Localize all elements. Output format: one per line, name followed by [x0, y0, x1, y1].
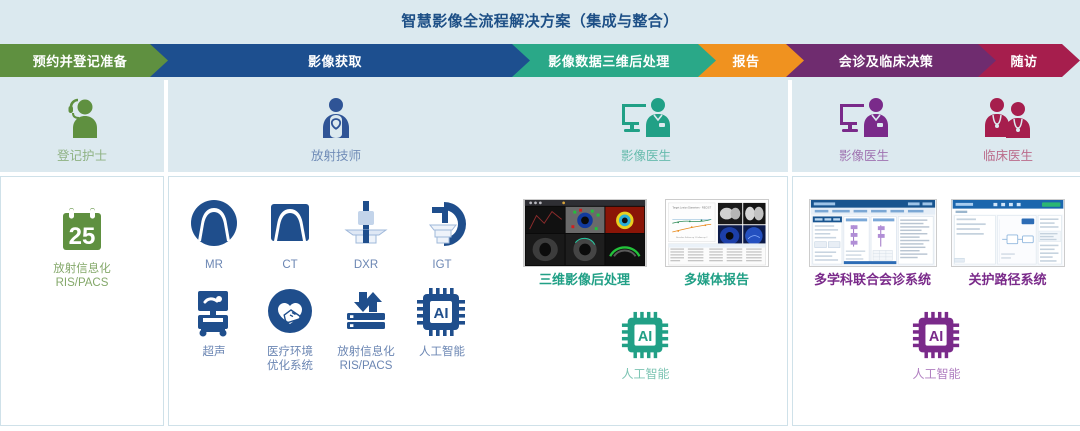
- stage-scheduling-label: 预约并登记准备: [27, 51, 142, 70]
- tile-ai-acquisition[interactable]: AI 人工智能: [404, 286, 480, 359]
- stage-reporting-label: 报告: [726, 51, 773, 70]
- tile-caption: 关护路径系统: [968, 272, 1046, 288]
- role-4[interactable]: 临床医生: [980, 88, 1036, 164]
- technologist-icon: [314, 96, 358, 140]
- role-band: 登记护士 放射技师 影像医生: [0, 80, 1080, 172]
- workflow-diagram: 智慧影像全流程解决方案（集成与整合） 预约并登记准备影像获取影像数据三维后处理报…: [0, 0, 1080, 431]
- tile-caption: 放射信息化 RIS/PACS: [337, 345, 395, 373]
- tile-dxr[interactable]: DXR: [328, 197, 404, 272]
- ai-chip-icon: AI: [911, 310, 963, 362]
- tile-caption-line2: RIS/PACS: [53, 276, 111, 290]
- tile-ai-consult[interactable]: AI 人工智能: [911, 310, 963, 382]
- tile-caption: 放射信息化 RIS/PACS: [53, 262, 111, 290]
- ultrasound-cart-icon: [187, 286, 241, 340]
- role-2[interactable]: 影像医生: [618, 88, 674, 164]
- stage-chevron-strip: 预约并登记准备影像获取影像数据三维后处理报告会诊及临床决策随访: [0, 41, 1080, 80]
- tile-caption: 医疗环境 优化系统: [267, 345, 313, 373]
- stage-acquisition-label: 影像获取: [302, 51, 376, 70]
- tile-caption: 人工智能: [912, 367, 960, 382]
- svg-text:Target Lesion Diameters - RECI: Target Lesion Diameters - RECIST: [672, 207, 711, 210]
- stage-consult-label: 会诊及临床决策: [833, 51, 948, 70]
- tile-caption: 多学科联合会诊系统: [814, 272, 931, 288]
- tile-mdt-system[interactable]: 多学科联合会诊系统: [809, 199, 937, 288]
- mr-scanner-icon: [186, 197, 242, 253]
- tile-caption-line1: 超声: [203, 345, 226, 359]
- dxr-xray-icon: [338, 197, 394, 253]
- tile-multimedia-report[interactable]: Target Lesion Diameters - RECIST Baselin…: [665, 199, 769, 288]
- postprocessing-row-2: AI 人工智能: [504, 310, 787, 382]
- header-bar: 智慧影像全流程解决方案（集成与整合）: [0, 0, 1080, 41]
- svg-text:Baseline Follow-up 1 Follow-: Baseline Follow-up 1 Follow-up 2: [676, 237, 708, 239]
- tile-caption-line1: MR: [205, 258, 223, 272]
- clinicians-pair-icon: [980, 96, 1036, 140]
- role-cell: 登记护士: [0, 80, 164, 172]
- multimedia-report-screenshot: Target Lesion Diameters - RECIST Baselin…: [665, 199, 769, 267]
- calendar-icon: 25: [56, 205, 108, 257]
- panel-scheduling: 25 放射信息化 RIS/PACS: [0, 176, 164, 426]
- ai-chip-icon: AI: [620, 310, 672, 362]
- radiologist-monitor-icon: [836, 96, 892, 140]
- tile-igt[interactable]: IGT: [404, 197, 480, 272]
- panel-postprocessing: 三维影像后处理 Target Lesion Diameters - RECIST: [504, 176, 788, 426]
- stage-scheduling[interactable]: 预约并登记准备: [0, 44, 168, 77]
- radiologist-monitor-icon: [618, 96, 674, 140]
- tile-mr[interactable]: MR: [176, 197, 252, 272]
- tile-ris-pacs[interactable]: 25 放射信息化 RIS/PACS: [53, 205, 111, 290]
- role-label: 影像医生: [839, 145, 889, 164]
- data-exchange-icon: [339, 286, 393, 340]
- tile-care-pathway-system[interactable]: 关护路径系统: [951, 199, 1065, 288]
- care-handshake-icon: [263, 286, 317, 340]
- tile-ai-postprocessing[interactable]: AI 人工智能: [620, 310, 672, 382]
- page-title: 智慧影像全流程解决方案（集成与整合）: [401, 10, 678, 31]
- role-3[interactable]: 影像医生: [836, 88, 892, 164]
- consult-row-1: 多学科联合会诊系统: [793, 199, 1080, 288]
- tile-care-environment[interactable]: 医疗环境 优化系统: [252, 286, 328, 373]
- role-label: 影像医生: [621, 145, 671, 164]
- stage-postprocessing-label: 影像数据三维后处理: [542, 51, 684, 70]
- role-label: 临床医生: [983, 145, 1033, 164]
- svg-text:AI: AI: [434, 305, 449, 322]
- care-pathway-system-screenshot: [951, 199, 1065, 267]
- tile-caption: 多媒体报告: [684, 272, 749, 288]
- tile-caption-line1: 放射信息化: [337, 345, 395, 359]
- tile-caption-line1: 医疗环境: [267, 345, 313, 359]
- role-cell: 影像医生 临床医生: [792, 80, 1080, 172]
- tile-caption-line1: DXR: [354, 258, 378, 272]
- calendar-day-number: 25: [69, 223, 96, 250]
- tile-caption-line1: IGT: [432, 258, 451, 272]
- tile-advanced-visualization[interactable]: 三维影像后处理: [523, 199, 647, 288]
- tile-caption-line2: 优化系统: [267, 359, 313, 373]
- stage-consult[interactable]: 会诊及临床决策: [784, 44, 996, 77]
- tile-ct[interactable]: CT: [252, 197, 328, 272]
- tile-caption-line1: CT: [282, 258, 297, 272]
- igt-carm-icon: [414, 197, 470, 253]
- panel-consult: 多学科联合会诊系统: [792, 176, 1080, 426]
- tile-ultrasound[interactable]: 超声: [176, 286, 252, 359]
- tile-caption: 人工智能: [621, 367, 669, 382]
- role-label: 放射技师: [311, 145, 361, 164]
- mdt-system-screenshot: [809, 199, 937, 267]
- role-1[interactable]: 放射技师: [311, 88, 361, 164]
- tile-caption: 三维影像后处理: [539, 272, 630, 288]
- advanced-visualization-screenshot: [523, 199, 647, 267]
- consult-row-2: AI 人工智能: [793, 310, 1080, 382]
- postprocessing-row-1: 三维影像后处理 Target Lesion Diameters - RECIST: [504, 199, 787, 288]
- tile-caption-line2: RIS/PACS: [337, 359, 395, 373]
- svg-text:AI: AI: [928, 329, 942, 345]
- role-0[interactable]: 登记护士: [57, 88, 107, 164]
- svg-text:AI: AI: [637, 329, 651, 345]
- nurse-headset-icon: [60, 96, 104, 140]
- stage-followup-label: 随访: [1004, 51, 1051, 70]
- stage-postprocessing[interactable]: 影像数据三维后处理: [510, 44, 716, 77]
- role-label: 登记护士: [57, 145, 107, 164]
- tile-caption-line1: 人工智能: [419, 345, 465, 359]
- ai-chip-icon: AI: [415, 286, 469, 340]
- role-cell: 影像医生: [504, 80, 788, 172]
- role-cell: 放射技师: [168, 80, 504, 172]
- stage-acquisition[interactable]: 影像获取: [148, 44, 530, 77]
- tile-ris-pacs-exchange[interactable]: 放射信息化 RIS/PACS: [328, 286, 404, 373]
- ct-scanner-icon: [262, 197, 318, 253]
- tile-caption-line1: 放射信息化: [53, 262, 111, 276]
